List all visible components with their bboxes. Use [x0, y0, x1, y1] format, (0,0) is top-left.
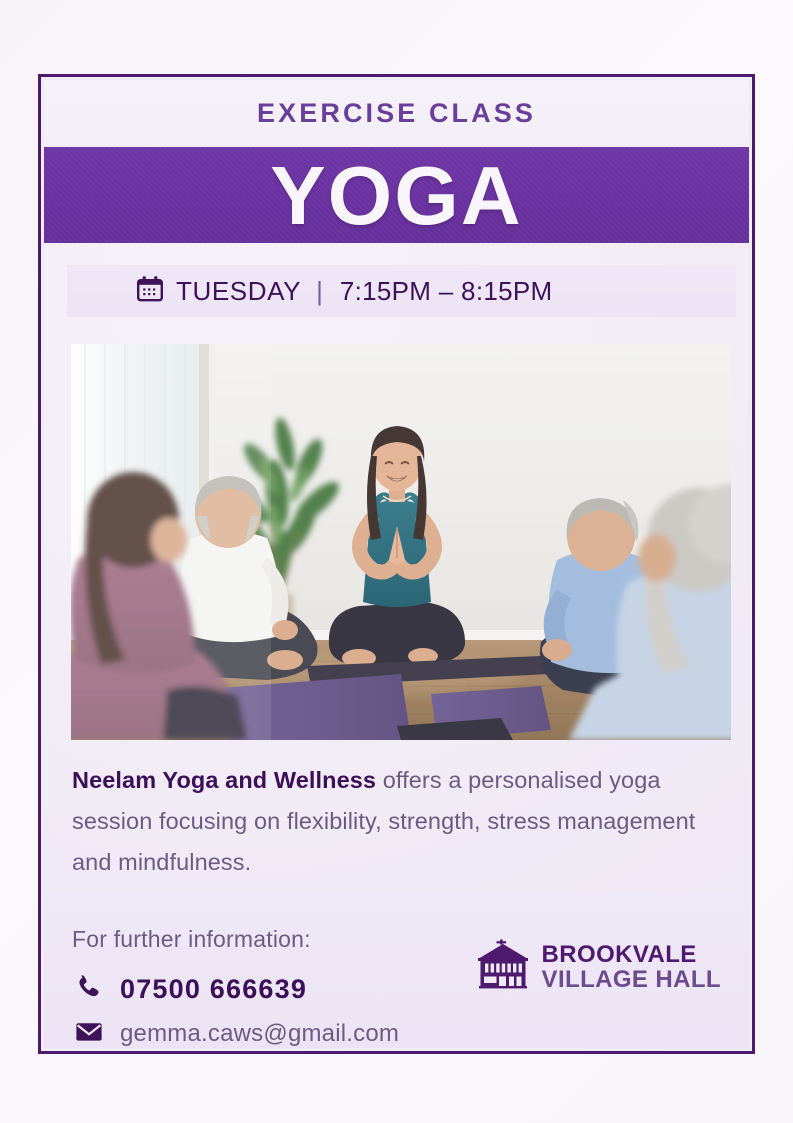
schedule-day: TUESDAY — [176, 276, 301, 307]
logo-line-2: VILLAGE HALL — [542, 967, 721, 992]
envelope-icon — [74, 1016, 104, 1049]
description-lead: Neelam Yoga and Wellness — [72, 767, 376, 793]
yoga-class-photo — [71, 344, 731, 740]
schedule-bar: TUESDAY | 7:15PM – 8:15PM — [67, 265, 736, 317]
contact-email-row[interactable]: gemma.caws@gmail.com — [74, 1016, 399, 1049]
poster-page: EXERCISE CLASS YOGA — [0, 0, 793, 1123]
title-band: YOGA — [44, 147, 749, 243]
logo-text: BROOKVALE VILLAGE HALL — [542, 942, 721, 992]
schedule-content: TUESDAY | 7:15PM – 8:15PM — [135, 274, 552, 309]
contact-phone-number: 07500 666639 — [120, 974, 307, 1005]
contact-band: For further information: 07500 666639 — [44, 892, 749, 1048]
description-text: Neelam Yoga and Wellness offers a person… — [72, 760, 730, 883]
poster-inner: EXERCISE CLASS YOGA — [43, 79, 750, 1049]
schedule-time: 7:15PM – 8:15PM — [340, 276, 553, 307]
logo-line-1: BROOKVALE — [542, 942, 721, 967]
calendar-icon — [135, 274, 165, 309]
contact-phone-row[interactable]: 07500 666639 — [74, 972, 307, 1007]
contact-lead: For further information: — [72, 926, 311, 953]
eyebrow-text: EXERCISE CLASS — [257, 98, 536, 129]
contact-email-address: gemma.caws@gmail.com — [120, 1020, 399, 1048]
brookvale-village-hall-logo: BROOKVALE VILLAGE HALL — [475, 936, 721, 997]
eyebrow-band: EXERCISE CLASS — [44, 80, 749, 147]
schedule-separator: | — [316, 276, 323, 307]
page-title: YOGA — [270, 154, 522, 237]
phone-icon — [74, 972, 104, 1007]
village-hall-building-icon — [475, 936, 531, 997]
poster-frame: EXERCISE CLASS YOGA — [38, 74, 755, 1054]
